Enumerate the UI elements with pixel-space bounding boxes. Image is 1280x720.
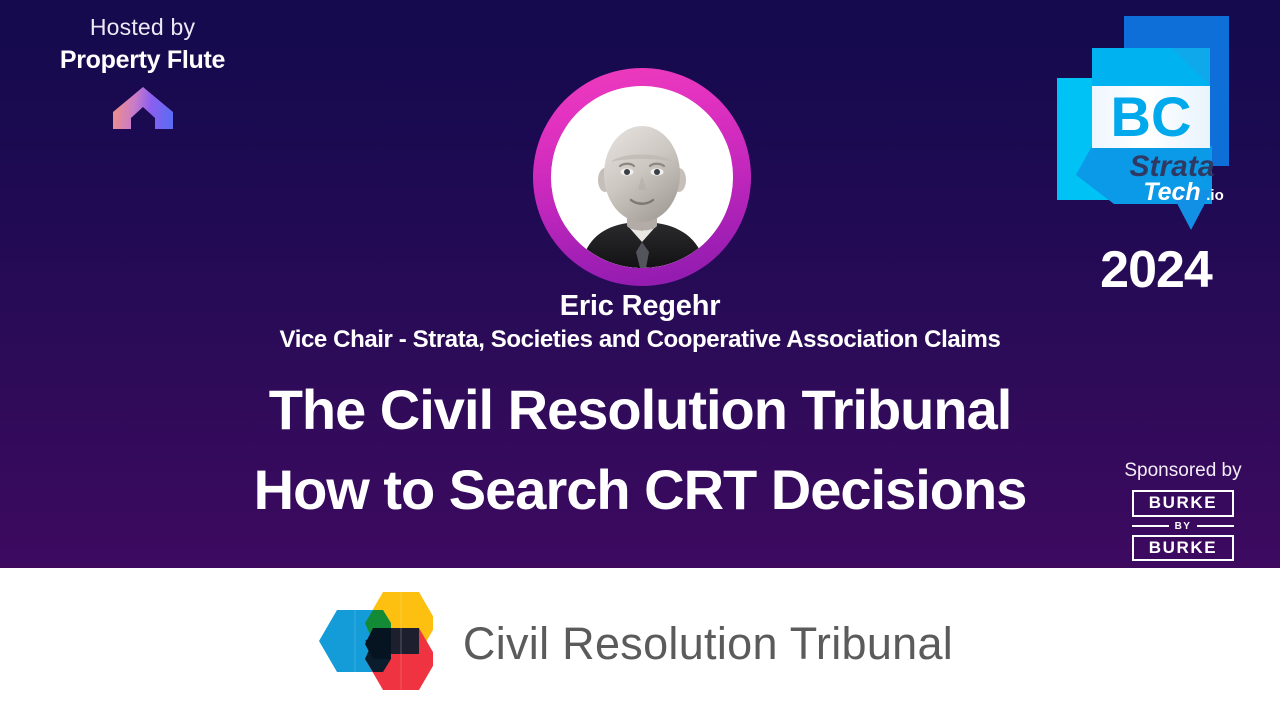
burke-rule-left xyxy=(1132,525,1169,527)
sponsor-name-bottom: BURKE xyxy=(1132,535,1234,562)
presentation-title: The Civil Resolution Tribunal How to Sea… xyxy=(0,370,1280,529)
burke-rule-right xyxy=(1197,525,1234,527)
bc-abbrev-text: BC xyxy=(1111,85,1192,148)
crt-wordmark: Civil Resolution Tribunal xyxy=(463,618,953,670)
speaker-portrait xyxy=(551,86,733,268)
house-chevron-icon xyxy=(111,85,175,136)
speaker-role: Vice Chair - Strata, Societies and Coope… xyxy=(0,326,1280,354)
footer-bar: Civil Resolution Tribunal xyxy=(0,568,1280,720)
hosted-by-label: Hosted by xyxy=(30,14,255,42)
banner-background: Hosted by Property Flute xyxy=(0,0,1280,568)
burke-connector-text: BY xyxy=(1175,521,1192,532)
burke-connector-row: BY xyxy=(1132,521,1234,532)
presentation-title-slide: Hosted by Property Flute xyxy=(0,0,1280,720)
sponsor-block: Sponsored by BURKE BY BURKE xyxy=(1108,460,1258,561)
title-line-2: How to Search CRT Decisions xyxy=(0,450,1280,530)
crt-logo-lockup: Civil Resolution Tribunal xyxy=(315,588,953,701)
hosted-by-block: Hosted by Property Flute xyxy=(30,14,255,136)
title-line-1: The Civil Resolution Tribunal xyxy=(0,370,1280,450)
burke-by-burke-logo: BURKE BY BURKE xyxy=(1132,490,1234,562)
crt-hexagon-logo xyxy=(315,588,433,701)
tech-text: Tech xyxy=(1143,178,1200,206)
host-logo-wrapper xyxy=(30,85,255,136)
event-year: 2024 xyxy=(1052,240,1260,300)
bc-stratatech-logo: BC Strata Tech .io xyxy=(1052,8,1260,230)
speaker-portrait-ring xyxy=(533,68,751,286)
sponsored-by-label: Sponsored by xyxy=(1108,460,1258,483)
host-organization-name: Property Flute xyxy=(30,45,255,75)
sponsor-name-top: BURKE xyxy=(1132,490,1234,517)
tld-text: .io xyxy=(1206,187,1224,204)
